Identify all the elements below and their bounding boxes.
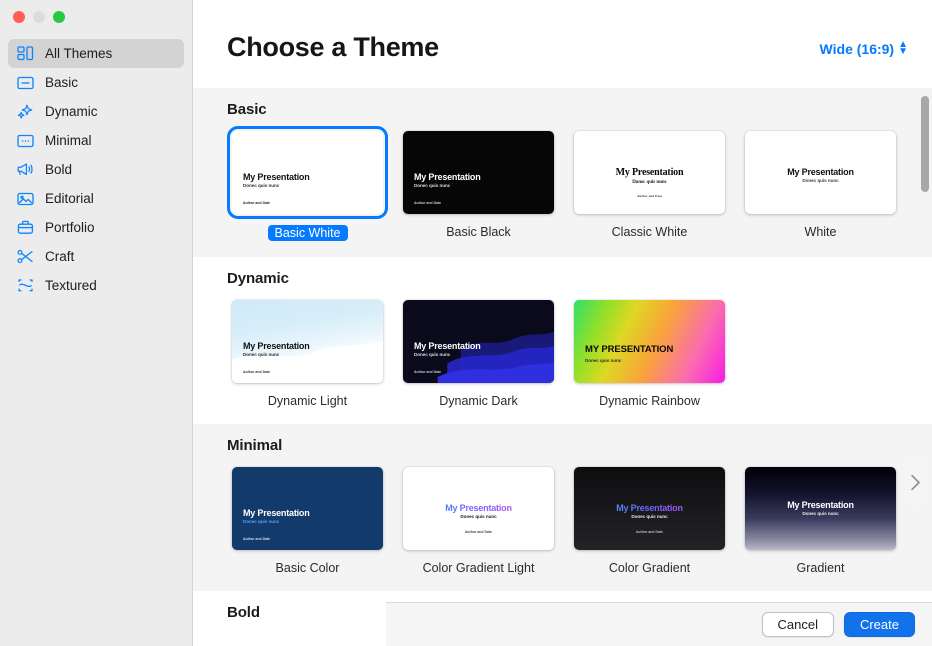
slide-subtitle: Donec quis nunc	[414, 352, 481, 357]
theme-name: Basic Color	[276, 561, 340, 575]
close-button[interactable]	[13, 11, 25, 23]
theme-name: Dynamic Rainbow	[599, 394, 700, 408]
slide-subtitle: Donec quis nunc	[243, 352, 310, 357]
theme-card-basic-black[interactable]: My Presentation Donec quis nunc Author a…	[393, 128, 564, 241]
theme-card-dynamic-light[interactable]: My Presentation Donec quis nunc Author a…	[222, 297, 393, 408]
theme-name: Gradient	[797, 561, 845, 575]
main-panel: Choose a Theme Wide (16:9) ▲▼ Basic	[193, 0, 932, 646]
sidebar-item-all-themes[interactable]: All Themes	[8, 39, 184, 68]
sidebar-item-label: All Themes	[45, 46, 112, 61]
minimize-button[interactable]	[33, 11, 45, 23]
theme-thumbnail[interactable]: My Presentation Donec quis nunc Author a…	[229, 128, 386, 217]
theme-name: White	[805, 225, 837, 239]
slide-author: Author and Date	[574, 530, 725, 534]
aspect-ratio-dropdown[interactable]: Wide (16:9) ▲▼	[820, 32, 908, 57]
theme-thumbnail[interactable]: My Presentation Donec quis nunc	[742, 128, 899, 217]
slide-title: My Presentation	[243, 508, 310, 518]
sidebar-item-label: Craft	[45, 249, 74, 264]
theme-card-gradient[interactable]: My Presentation Donec quis nunc Gradient	[735, 464, 906, 575]
slide-subtitle: Donec quis nunc	[243, 519, 310, 524]
sidebar-item-label: Portfolio	[45, 220, 95, 235]
sidebar-item-craft[interactable]: Craft	[8, 242, 184, 271]
theme-thumbnail[interactable]: My Presentation Donec quis nunc Author a…	[571, 128, 728, 217]
theme-card-color-gradient[interactable]: My Presentation Donec quis nunc Author a…	[564, 464, 735, 575]
theme-card-basic-white[interactable]: My Presentation Donec quis nunc Author a…	[222, 128, 393, 241]
sidebar-item-label: Minimal	[45, 133, 92, 148]
theme-thumbnail[interactable]: My Presentation Donec quis nunc Author a…	[229, 297, 386, 386]
slide-title: My Presentation	[414, 341, 481, 351]
theme-card-dynamic-rainbow[interactable]: MY PRESENTATION Donec quis nunc Dynamic …	[564, 297, 735, 408]
theme-card-white[interactable]: My Presentation Donec quis nunc White	[735, 128, 906, 241]
theme-card-color-gradient-light[interactable]: My Presentation Donec quis nunc Author a…	[393, 464, 564, 575]
theme-row: My Presentation Donec quis nunc Author a…	[193, 128, 932, 257]
theme-thumbnail[interactable]: My Presentation Donec quis nunc	[742, 464, 899, 553]
theme-card-dynamic-dark[interactable]: My Presentation Donec quis nunc Author a…	[393, 297, 564, 408]
sidebar-item-label: Bold	[45, 162, 72, 177]
page-title: Choose a Theme	[227, 32, 439, 63]
aspect-ratio-value: Wide (16:9)	[820, 41, 895, 57]
section-title: Basic	[193, 101, 932, 118]
sidebar-item-label: Dynamic	[45, 104, 98, 119]
theme-row: My Presentation Donec quis nunc Author a…	[193, 297, 932, 424]
chevron-right-icon	[910, 474, 921, 491]
theme-card-basic-color[interactable]: My Presentation Donec quis nunc Author a…	[222, 464, 393, 575]
slide-subtitle: Donec quis nunc	[414, 183, 481, 188]
minimal-icon	[16, 131, 35, 150]
texture-icon	[16, 276, 35, 295]
theme-thumbnail[interactable]: My Presentation Donec quis nunc Author a…	[229, 464, 386, 553]
sidebar-item-dynamic[interactable]: Dynamic	[8, 97, 184, 126]
slide-author: Author and Date	[243, 537, 270, 541]
sparkles-icon	[16, 102, 35, 121]
slide-title: My Presentation	[574, 167, 725, 179]
slide-author: Author and Date	[414, 201, 441, 205]
slide-title: My Presentation	[574, 503, 725, 513]
slide-title: My Presentation	[745, 500, 896, 510]
theme-thumbnail[interactable]: My Presentation Donec quis nunc Author a…	[400, 128, 557, 217]
theme-name: Basic Black	[446, 225, 511, 239]
vertical-scrollbar[interactable]	[921, 96, 929, 496]
theme-name: Color Gradient Light	[423, 561, 535, 575]
theme-name: Basic White	[268, 225, 348, 241]
slide-subtitle: Donec quis nunc	[745, 511, 896, 516]
sidebar-item-textured[interactable]: Textured	[8, 271, 184, 300]
theme-scroll-area[interactable]: Basic My Presentation Donec quis nunc Au…	[193, 88, 932, 646]
slide-subtitle: Donec quis nunc	[243, 183, 310, 188]
sidebar-item-label: Textured	[45, 278, 97, 293]
section-title: Minimal	[193, 437, 932, 454]
scissors-icon	[16, 247, 35, 266]
theme-thumbnail[interactable]: My Presentation Donec quis nunc Author a…	[571, 464, 728, 553]
briefcase-icon	[16, 218, 35, 237]
window-controls	[0, 0, 192, 32]
sidebar-item-label: Editorial	[45, 191, 94, 206]
slide-title: My Presentation	[243, 341, 310, 351]
sidebar-item-portfolio[interactable]: Portfolio	[8, 213, 184, 242]
theme-name: Color Gradient	[609, 561, 690, 575]
theme-card-classic-white[interactable]: My Presentation Donec quis nunc Author a…	[564, 128, 735, 241]
slide-author: Author and Date	[414, 370, 441, 374]
up-down-chevron-icon: ▲▼	[898, 42, 908, 55]
theme-section-dynamic: Dynamic My Presentation Do	[193, 257, 932, 424]
photo-icon	[16, 189, 35, 208]
slide-title: My Presentation	[414, 172, 481, 182]
theme-chooser-window: All Themes Basic Dynam	[0, 0, 932, 646]
slide-subtitle: Donec quis nunc	[585, 358, 673, 363]
slide-subtitle: Donec quis nunc	[745, 178, 896, 183]
slide-author: Author and Date	[574, 194, 725, 198]
create-button[interactable]: Create	[844, 612, 915, 637]
slide-subtitle: Donec quis nunc	[574, 514, 725, 519]
slide-author: Author and Date	[243, 370, 270, 374]
theme-name: Classic White	[612, 225, 688, 239]
megaphone-icon	[16, 160, 35, 179]
theme-name: Dynamic Light	[268, 394, 347, 408]
theme-thumbnail[interactable]: MY PRESENTATION Donec quis nunc	[571, 297, 728, 386]
theme-row: My Presentation Donec quis nunc Author a…	[193, 464, 932, 591]
slide-title: MY PRESENTATION	[585, 345, 673, 356]
slide-title: My Presentation	[403, 503, 554, 513]
header: Choose a Theme Wide (16:9) ▲▼	[193, 0, 932, 88]
sidebar-item-bold[interactable]: Bold	[8, 155, 184, 184]
slide-title: My Presentation	[243, 172, 310, 182]
slide-author: Author and Date	[243, 201, 270, 205]
theme-thumbnail[interactable]: My Presentation Donec quis nunc Author a…	[400, 464, 557, 553]
sidebar-category-list: All Themes Basic Dynam	[0, 39, 192, 300]
theme-section-minimal: Minimal My Presentation Donec quis nunc …	[193, 424, 932, 591]
sidebar-item-minimal[interactable]: Minimal	[8, 126, 184, 155]
slide-subtitle: Donec quis nunc	[403, 514, 554, 519]
slide-author: Author and Date	[403, 530, 554, 534]
section-title: Dynamic	[193, 270, 932, 287]
slide-title: My Presentation	[745, 167, 896, 177]
sidebar-item-editorial[interactable]: Editorial	[8, 184, 184, 213]
theme-name: Dynamic Dark	[439, 394, 518, 408]
theme-section-basic: Basic My Presentation Donec quis nunc Au…	[193, 88, 932, 257]
slide-subtitle: Donec quis nunc	[574, 180, 725, 185]
scrollbar-thumb[interactable]	[921, 96, 929, 192]
basic-icon	[16, 73, 35, 92]
cancel-button[interactable]: Cancel	[762, 612, 834, 637]
zoom-button[interactable]	[53, 11, 65, 23]
theme-thumbnail[interactable]: My Presentation Donec quis nunc Author a…	[400, 297, 557, 386]
all-themes-icon	[16, 44, 35, 63]
sidebar-item-basic[interactable]: Basic	[8, 68, 184, 97]
sidebar-item-label: Basic	[45, 75, 78, 90]
footer-action-bar: Cancel Create	[386, 602, 932, 646]
sidebar: All Themes Basic Dynam	[0, 0, 193, 646]
